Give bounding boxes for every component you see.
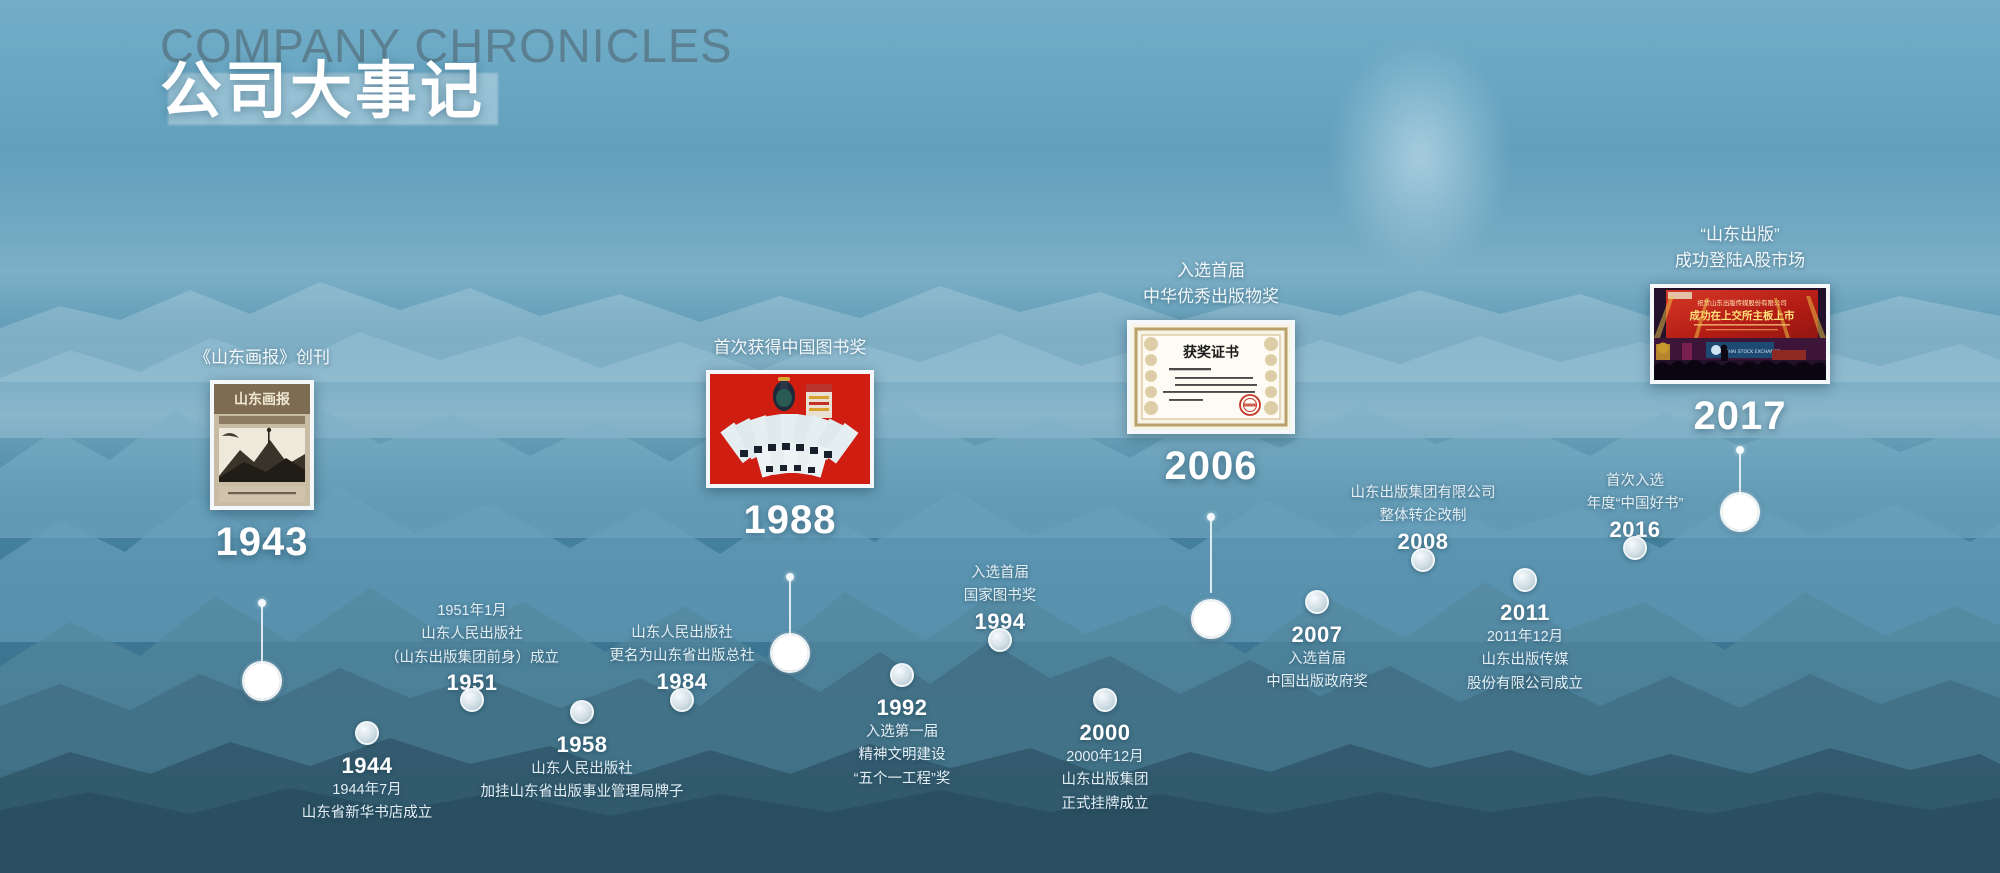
- event-photo-2006: 获奖证书: [1127, 320, 1295, 434]
- svg-text:山东画报: 山东画报: [234, 391, 290, 408]
- title-cn-wrapper: 公司大事记: [160, 57, 733, 126]
- timeline-node-1994[interactable]: [988, 628, 1012, 652]
- connector-dot-2006: [1207, 513, 1215, 521]
- mountain-ridge-foreground: [0, 660, 2000, 873]
- connector-dot-1943: [258, 599, 266, 607]
- event-year-1958: 1958: [481, 732, 684, 758]
- event-caption-1988: 首次获得中国图书奖: [706, 335, 874, 361]
- page-title-chinese: 公司大事记: [160, 57, 733, 126]
- sun-glow: [1330, 40, 1510, 270]
- event-caption-2017: “山东出版” 成功登陆A股市场: [1650, 222, 1830, 275]
- event-year-2017: 2017: [1650, 394, 1830, 439]
- event-desc-1994: 入选首届 国家图书奖: [964, 562, 1037, 609]
- event-desc-2011: 2011年12月 山东出版传媒 股份有限公司成立: [1467, 626, 1583, 696]
- timeline-node-2007[interactable]: [1305, 590, 1329, 614]
- timeline-node-2000[interactable]: [1093, 688, 1117, 712]
- event-caption-2006: 入选首届 中华优秀出版物奖: [1127, 258, 1295, 311]
- event-desc-2000: 2000年12月 山东出版集团 正式挂牌成立: [1062, 746, 1149, 816]
- connector-dot-2017: [1736, 446, 1744, 454]
- event-desc-2007: 入选首届 中国出版政府奖: [1266, 648, 1368, 695]
- timeline-node-2006[interactable]: [1193, 601, 1229, 637]
- event-year-2006: 2006: [1127, 444, 1295, 489]
- timeline-node-1943[interactable]: [244, 663, 280, 699]
- event-year-1943: 1943: [194, 520, 330, 565]
- connector-2006: [1210, 517, 1212, 593]
- event-photo-1943: 山东画报: [210, 380, 314, 510]
- timeline-node-1988[interactable]: [772, 635, 808, 671]
- timeline-node-2017[interactable]: [1722, 494, 1758, 530]
- event-year-2000: 2000: [1062, 720, 1149, 746]
- timeline-node-1992[interactable]: [890, 663, 914, 687]
- timeline-node-2016[interactable]: [1623, 536, 1647, 560]
- event-year-2011: 2011: [1467, 600, 1583, 626]
- event-year-1944: 1944: [302, 753, 433, 779]
- timeline-node-1944[interactable]: [355, 721, 379, 745]
- event-photo-2017: 祝贺山东出版传媒股份有限公司 成功在上交所主板上市 SHANGHAI STOCK…: [1650, 284, 1830, 384]
- event-desc-1992: 入选第一届 精神文明建设 “五个一工程”奖: [854, 721, 951, 791]
- timeline-node-1958[interactable]: [570, 700, 594, 724]
- event-year-2007: 2007: [1266, 622, 1368, 648]
- event-desc-1984: 山东人民出版社 更名为山东省出版总社: [610, 622, 755, 669]
- connector-dot-1988: [786, 573, 794, 581]
- timeline-poster: COMPANY CHRONICLES 公司大事记 《山东画报》创刊 山东画报: [0, 0, 2000, 873]
- event-desc-1944: 1944年7月 山东省新华书店成立: [302, 779, 433, 826]
- title-block: COMPANY CHRONICLES 公司大事记: [160, 22, 733, 126]
- event-photo-1988: [706, 370, 874, 488]
- event-year-1992: 1992: [854, 695, 951, 721]
- svg-text:祝贺山东出版传媒股份有限公司: 祝贺山东出版传媒股份有限公司: [1697, 298, 1786, 307]
- timeline-node-2008[interactable]: [1411, 548, 1435, 572]
- mountain-ridge-base: [0, 762, 2000, 873]
- timeline-node-1951[interactable]: [460, 688, 484, 712]
- event-desc-1951: 1951年1月 山东人民出版社 （山东出版集团前身）成立: [385, 600, 559, 670]
- timeline-node-2011[interactable]: [1513, 568, 1537, 592]
- event-desc-1958: 山东人民出版社 加挂山东省出版事业管理局牌子: [481, 758, 684, 805]
- event-desc-2008: 山东出版集团有限公司 整体转企改制: [1351, 482, 1496, 529]
- svg-text:获奖证书: 获奖证书: [1183, 344, 1239, 361]
- event-desc-2016: 首次入选 年度“中国好书”: [1587, 470, 1684, 517]
- event-year-1988: 1988: [706, 498, 874, 543]
- timeline-node-1984[interactable]: [670, 688, 694, 712]
- event-caption-1943: 《山东画报》创刊: [194, 345, 330, 371]
